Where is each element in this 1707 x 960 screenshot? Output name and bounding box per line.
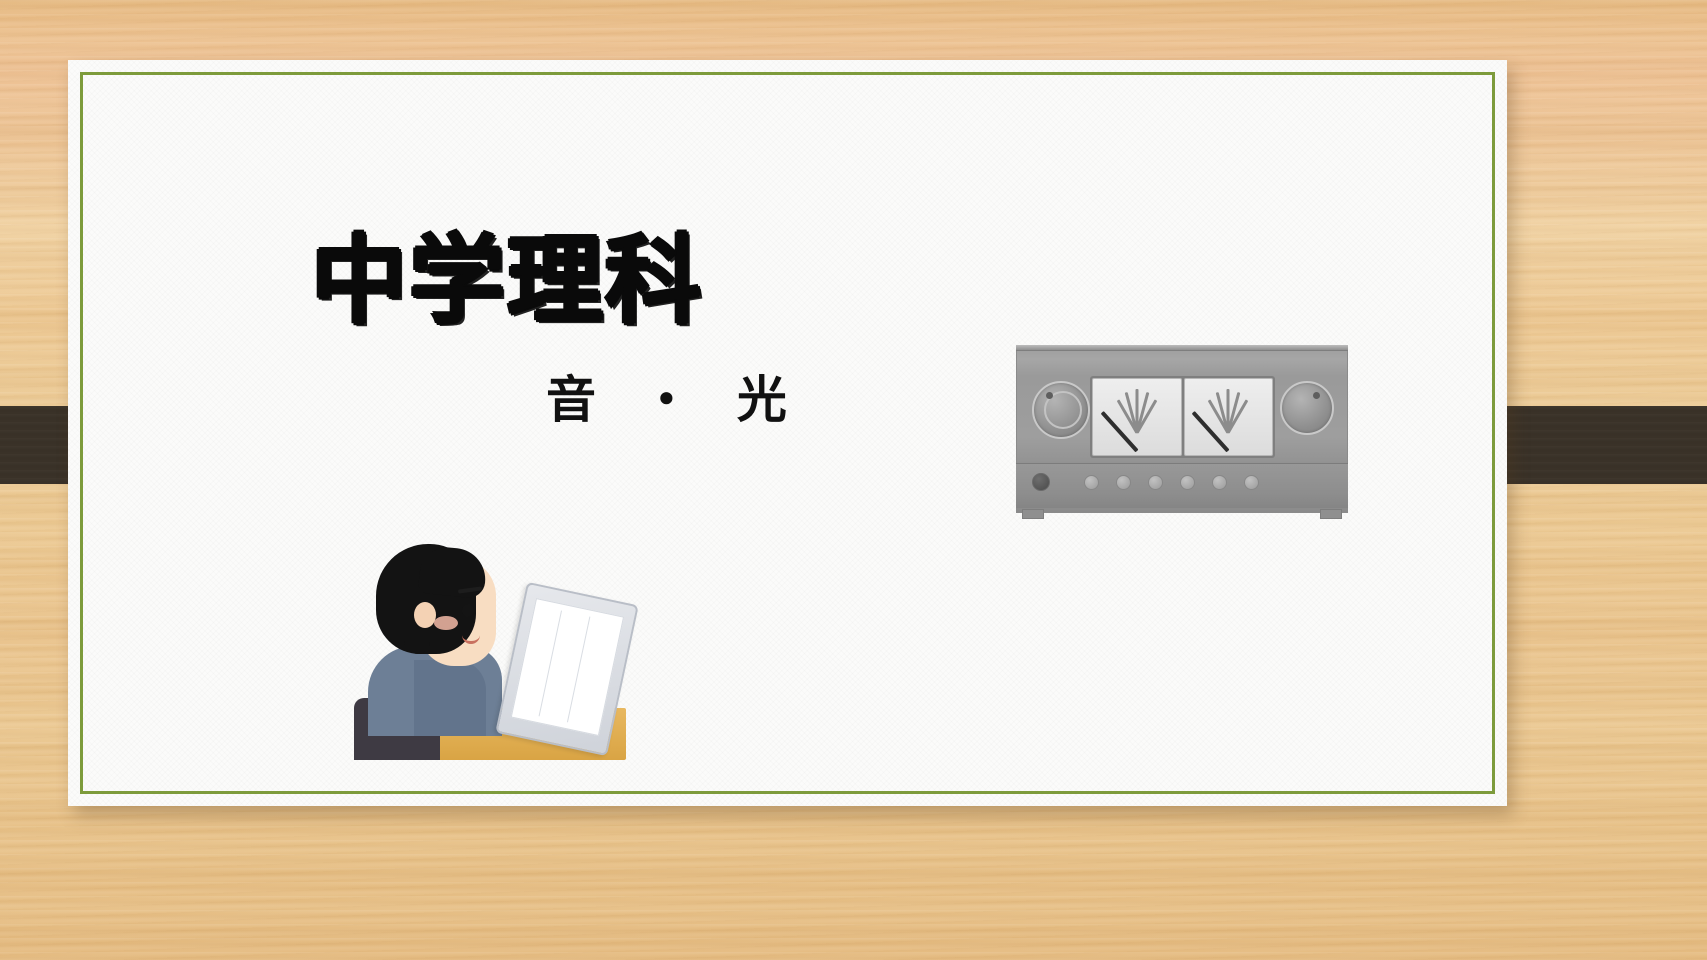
amplifier-button [1244, 475, 1259, 490]
amplifier-knob-left [1032, 381, 1090, 439]
amplifier-illustration [1016, 345, 1348, 513]
book-page-line [539, 611, 562, 717]
amplifier-button [1180, 475, 1195, 490]
student-ear [414, 602, 436, 628]
slide-card: 中学理科 音 ・ 光 [68, 60, 1507, 806]
amplifier-button-row [1084, 475, 1259, 490]
amplifier-knob-right [1280, 381, 1334, 435]
student-head [376, 544, 498, 672]
amplifier-button [1084, 475, 1099, 490]
amplifier-foot-left [1022, 509, 1044, 519]
vu-meter-right [1184, 378, 1274, 456]
presentation-slide: 中学理科 音 ・ 光 [0, 0, 1707, 960]
title-block: 中学理科 音 ・ 光 [311, 228, 1071, 432]
slide-title: 中学理科 [311, 228, 1071, 336]
amplifier-foot-right [1320, 509, 1342, 519]
amplifier-power-button [1032, 473, 1050, 491]
student-eye [462, 604, 474, 617]
slide-subtitle: 音 ・ 光 [546, 360, 1071, 432]
student-cheek [434, 616, 458, 630]
amplifier-button [1212, 475, 1227, 490]
book-page-line [567, 616, 590, 722]
amplifier-button [1116, 475, 1131, 490]
vu-meter-left [1092, 378, 1182, 456]
knob-indicator-right [1313, 392, 1320, 399]
amplifier-button [1148, 475, 1163, 490]
amplifier-top-strip [1016, 345, 1348, 351]
book-page [511, 598, 624, 736]
student-illustration [354, 530, 626, 760]
vu-meter-group [1090, 376, 1275, 458]
knob-indicator-left [1046, 392, 1053, 399]
